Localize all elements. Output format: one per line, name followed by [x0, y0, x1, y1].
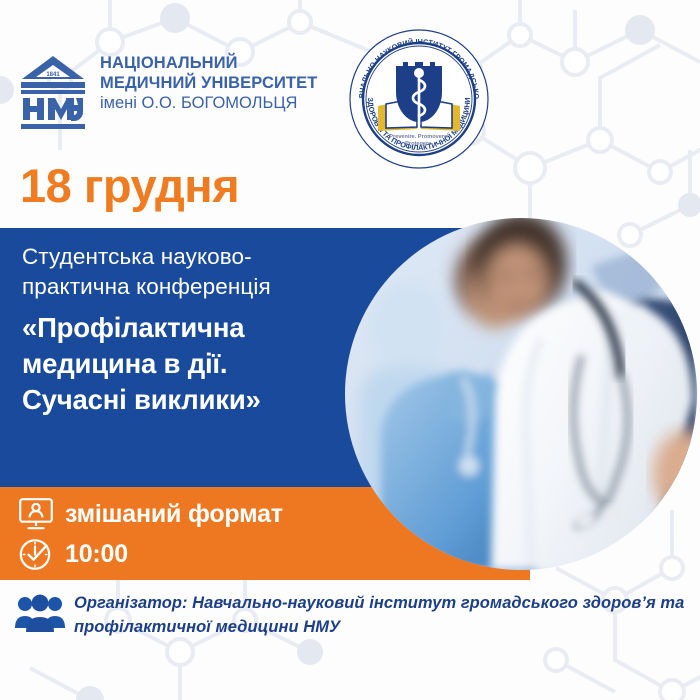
university-name-line-1: НАЦІОНАЛЬНИЙ — [100, 54, 238, 72]
monitor-webinar-icon — [18, 497, 54, 531]
svg-text:Prevenire. Promovere.: Prevenire. Promovere. — [389, 134, 449, 140]
clock-check-icon — [18, 537, 54, 571]
event-details-block: змішаний формат 10:00 — [0, 487, 360, 580]
poster-header: 1841 НАЦІОНАЛЬНИЙМЕДИЧНИЙ УНІВЕРСИТЕТіме… — [0, 0, 700, 175]
svg-text:1841: 1841 — [46, 72, 60, 78]
university-name-line-2: МЕДИЧНИЙ УНІВЕРСИТЕТ — [100, 74, 317, 92]
institute-seal-icon: НАВЧАЛЬНО-НАУКОВИЙ ІНСТИТУТ ГРОМАДСЬКОГО… — [348, 28, 490, 170]
event-date: 18 грудня — [20, 162, 239, 209]
organizer-block: Організатор: Навчально-науковий інститут… — [14, 592, 686, 640]
organizer-text: Організатор: Навчально-науковий інститут… — [74, 592, 686, 640]
detail-format-label: змішаний формат — [65, 502, 283, 527]
detail-time-label: 10:00 — [65, 542, 128, 567]
svg-text:Protegere.: Protegere. — [405, 141, 433, 147]
conference-kind: Студентська науково- практична конференц… — [22, 242, 360, 301]
conference-text-block: Студентська науково- практична конференц… — [0, 228, 360, 487]
university-name: НАЦІОНАЛЬНИЙМЕДИЧНИЙ УНІВЕРСИТЕТімені О.… — [100, 52, 317, 113]
detail-row-time: 10:00 — [18, 534, 360, 574]
conference-title: «Профілактична медицина в дії. Сучасні в… — [22, 310, 360, 417]
university-logo-block: 1841 НАЦІОНАЛЬНИЙМЕДИЧНИЙ УНІВЕРСИТЕТіме… — [18, 52, 317, 130]
detail-row-format: змішаний формат — [18, 494, 360, 534]
university-name-line-3: імені О.О. БОГОМОЛЬЦЯ — [100, 94, 297, 112]
doctors-group-photo — [345, 218, 697, 570]
conference-poster: 1841 НАЦІОНАЛЬНИЙМЕДИЧНИЙ УНІВЕРСИТЕТіме… — [0, 0, 700, 700]
nmu-building-logo-icon: 1841 — [18, 52, 88, 130]
people-group-icon — [14, 594, 66, 636]
